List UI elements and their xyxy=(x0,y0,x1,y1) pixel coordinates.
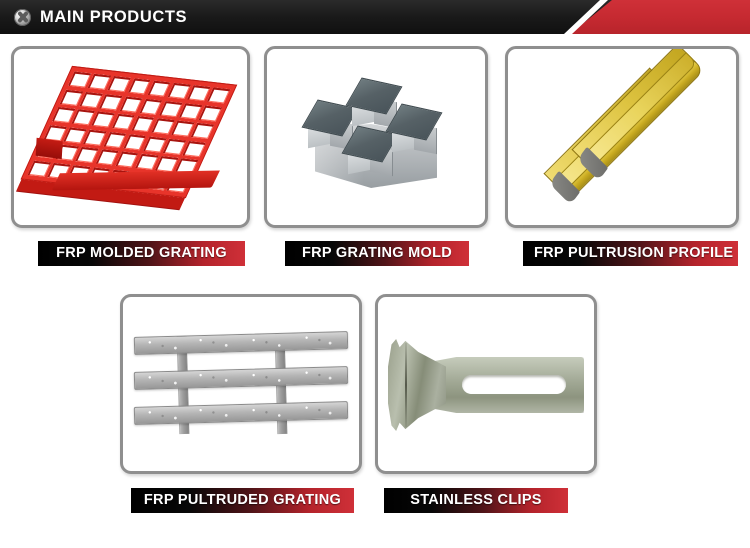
product-label-frp-molded-grating: FRP MOLDED GRATING xyxy=(38,241,245,266)
product-image-grating-mold-block xyxy=(267,49,485,225)
product-label-row-bottom: FRP PULTRUDED GRATING STAINLESS CLIPS xyxy=(0,488,750,514)
product-image-frame[interactable] xyxy=(264,46,488,228)
product-label-frp-grating-mold: FRP GRATING MOLD xyxy=(285,241,469,266)
product-card-stainless-clips[interactable] xyxy=(375,294,597,474)
product-card-frp-pultruded-grating[interactable] xyxy=(120,294,362,474)
page-title: MAIN PRODUCTS xyxy=(40,8,187,27)
product-image-frame[interactable] xyxy=(505,46,739,228)
product-label-stainless-clips: STAINLESS CLIPS xyxy=(384,488,568,513)
product-label-frp-pultrusion-profile: FRP PULTRUSION PROFILE xyxy=(523,241,738,266)
product-image-frame[interactable] xyxy=(120,294,362,474)
product-card-frp-grating-mold[interactable] xyxy=(264,46,488,228)
banner-content: MAIN PRODUCTS xyxy=(14,0,187,34)
main-products-banner: MAIN PRODUCTS xyxy=(0,0,750,34)
product-image-frame[interactable] xyxy=(375,294,597,474)
product-image-frame[interactable] xyxy=(11,46,250,228)
product-label-row-top: FRP MOLDED GRATING FRP GRATING MOLD FRP … xyxy=(0,241,750,267)
product-image-red-molded-grating xyxy=(14,49,247,225)
product-image-stainless-clip xyxy=(378,297,594,471)
disc-icon xyxy=(14,9,31,26)
product-image-pultruded-grating-bars xyxy=(123,297,359,471)
product-image-yellow-channel-profile xyxy=(508,49,736,225)
product-card-frp-molded-grating[interactable] xyxy=(11,46,250,228)
product-card-frp-pultrusion-profile[interactable] xyxy=(505,46,739,228)
product-label-frp-pultruded-grating: FRP PULTRUDED GRATING xyxy=(131,488,354,513)
